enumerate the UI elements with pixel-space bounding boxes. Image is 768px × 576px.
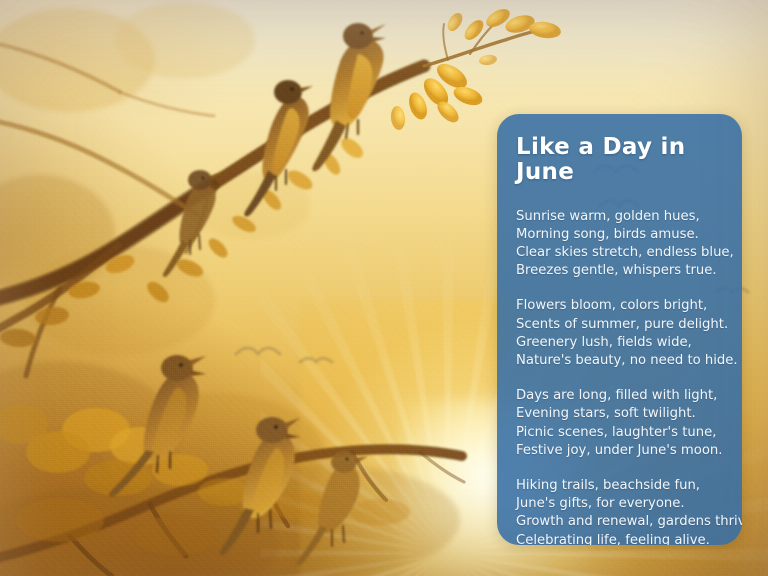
poem-line: Celebrating life, feeling alive.	[516, 532, 726, 545]
poem-line: Greenery lush, fields wide,	[516, 334, 726, 352]
poem-line: Festive joy, under June's moon.	[516, 442, 726, 460]
poem-content: Like a Day in June Sunrise warm, golden …	[497, 114, 742, 545]
poem-line: Growth and renewal, gardens thrive,	[516, 513, 726, 531]
poem-line: Days are long, filled with light,	[516, 387, 726, 405]
poem-line: Morning song, birds amuse.	[516, 226, 726, 244]
poem-panel: Like a Day in June Sunrise warm, golden …	[497, 114, 742, 545]
poem-stanza-4: Hiking trails, beachside fun, June's gif…	[516, 477, 726, 545]
poem-line: Clear skies stretch, endless blue,	[516, 244, 726, 262]
poem-line: Evening stars, soft twilight.	[516, 405, 726, 423]
poem-line: Scents of summer, pure delight.	[516, 316, 726, 334]
poem-line: Nature's beauty, no need to hide.	[516, 352, 726, 370]
poem-stanza-2: Flowers bloom, colors bright, Scents of …	[516, 297, 726, 370]
poem-line: Breezes gentle, whispers true.	[516, 262, 726, 280]
poem-line: Picnic scenes, laughter's tune,	[516, 424, 726, 442]
poem-line: Flowers bloom, colors bright,	[516, 297, 726, 315]
poem-line: Sunrise warm, golden hues,	[516, 208, 726, 226]
poem-title: Like a Day in June	[516, 135, 726, 186]
poem-line: June's gifts, for everyone.	[516, 495, 726, 513]
poem-stanza-3: Days are long, filled with light, Evenin…	[516, 387, 726, 460]
poem-line: Hiking trails, beachside fun,	[516, 477, 726, 495]
poem-poster: Like a Day in June Sunrise warm, golden …	[0, 0, 768, 576]
poem-stanza-1: Sunrise warm, golden hues, Morning song,…	[516, 208, 726, 281]
